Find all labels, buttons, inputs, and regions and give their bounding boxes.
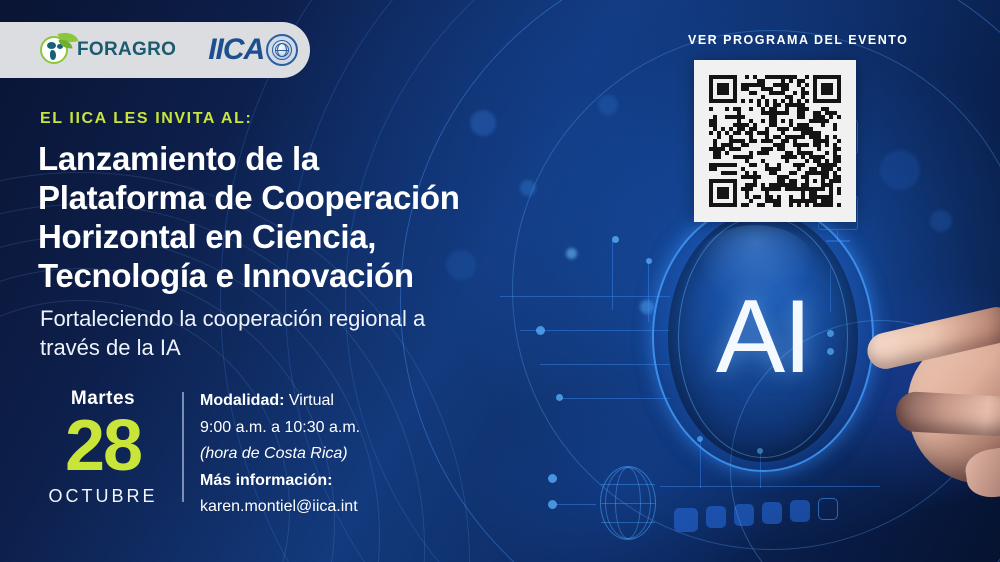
iica-seal-icon [266, 34, 298, 66]
pointing-hand-graphic [856, 298, 1000, 498]
globe-meridian [605, 467, 651, 539]
circuit-node [548, 500, 557, 509]
globe-parallel [601, 484, 655, 485]
hand-thumb [895, 391, 1000, 437]
circuit-node [536, 326, 545, 335]
wireframe-globe-icon [600, 466, 656, 540]
circuit-node [646, 258, 652, 264]
contact-email[interactable]: karen.montiel@iica.int [200, 494, 450, 521]
circuit-chip-outline [818, 498, 838, 520]
globe-meridian [615, 467, 641, 539]
ai-sphere-graphic: AI [668, 212, 858, 462]
bokeh-6 [566, 248, 577, 259]
modality-value: Virtual [289, 392, 334, 409]
circuit-wire [520, 330, 670, 331]
foragro-wordmark: FORAGRO [77, 39, 176, 61]
qr-code-panel[interactable] [694, 60, 856, 222]
circuit-chip [734, 504, 754, 526]
circuit-wire [560, 398, 670, 399]
circuit-chip [674, 508, 698, 532]
event-banner: AI FORAGRO IICA [0, 0, 1000, 562]
invitation-eyebrow: EL IICA LES INVITA AL: [40, 110, 252, 128]
iica-logo: IICA [208, 33, 298, 67]
globe-parallel [601, 503, 655, 504]
foragro-logo: FORAGRO [40, 33, 176, 67]
title-line: Lanzamiento de la [38, 140, 508, 179]
detail-time: 9:00 a.m. a 10:30 a.m. [200, 415, 450, 442]
bokeh-1 [470, 110, 496, 136]
more-info-label: Más información: [200, 468, 450, 495]
bokeh-8 [930, 210, 952, 232]
title-line: Tecnología e Innovación [38, 257, 508, 296]
iica-wordmark: IICA [208, 33, 264, 67]
circuit-wire [556, 504, 596, 505]
title-line: Plataforma de Cooperación [38, 179, 508, 218]
circuit-wire [500, 296, 670, 297]
date-month: OCTUBRE [38, 486, 168, 507]
globe-parallel [601, 522, 655, 523]
detail-timezone: (hora de Costa Rica) [200, 441, 450, 468]
qr-label: VER PROGRAMA DEL EVENTO [688, 33, 908, 47]
ai-label: AI [668, 212, 858, 462]
vertical-divider [182, 392, 184, 502]
circuit-wire [648, 262, 649, 322]
circuit-wire [612, 240, 613, 310]
event-subtitle: Fortaleciendo la cooperación regional a … [40, 304, 440, 363]
title-line: Horizontal en Ciencia, [38, 218, 508, 257]
qr-code-image[interactable] [709, 75, 841, 207]
circuit-wire [540, 364, 670, 365]
circuit-node [612, 236, 619, 243]
event-date-block: Martes 28 OCTUBRE [38, 388, 168, 507]
date-day: 28 [38, 412, 168, 480]
bokeh-3 [598, 95, 618, 115]
bokeh-5 [640, 300, 654, 314]
bokeh-2 [520, 180, 536, 196]
modality-label: Modalidad: [200, 392, 284, 409]
circuit-node [548, 474, 557, 483]
circuit-chip [762, 502, 782, 524]
event-title: Lanzamiento de la Plataforma de Cooperac… [38, 140, 508, 296]
circuit-chip [790, 500, 810, 522]
circuit-node [556, 394, 563, 401]
circuit-chip [706, 506, 726, 528]
bokeh-7 [880, 150, 920, 190]
event-details: Modalidad: Virtual 9:00 a.m. a 10:30 a.m… [200, 388, 450, 521]
foragro-globe-leaf-icon [40, 33, 74, 67]
detail-modality: Modalidad: Virtual [200, 388, 450, 415]
logo-bar: FORAGRO IICA [0, 22, 310, 78]
circuit-wire [660, 486, 880, 487]
